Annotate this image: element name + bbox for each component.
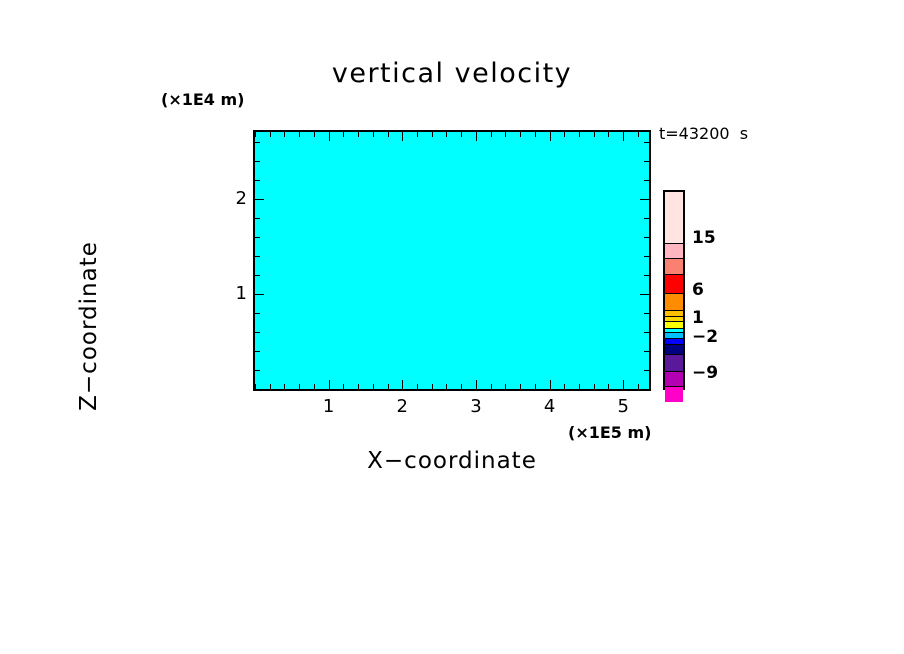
time-stamp-label: t=43200 s [659,124,748,143]
x-axis-units-label: (×1E5 m) [568,423,651,442]
axis-tick [314,132,315,137]
axis-tick [608,384,609,389]
colorbar-tick-label: 15 [692,228,716,248]
axis-tick [644,142,649,143]
axis-tick [255,313,260,314]
axis-tick [255,180,260,181]
y-axis-units-label: (×1E4 m) [161,90,244,109]
axis-tick [594,132,595,137]
colorbar-band [665,344,683,354]
colorbar-tick-label: −9 [692,363,718,383]
x-tick-label: 1 [314,396,344,417]
axis-tick [638,132,639,137]
axis-tick [255,370,260,371]
colorbar-band [665,243,683,259]
axis-tick [461,132,462,137]
axis-tick [579,132,580,137]
x-tick-label: 2 [387,396,417,417]
axis-tick [284,132,285,137]
axis-tick [432,132,433,137]
axis-tick [299,384,300,389]
axis-tick [373,384,374,389]
axis-tick [446,132,447,137]
axis-tick [491,384,492,389]
axis-tick [343,132,344,137]
axis-tick [255,332,260,333]
axis-tick [314,384,315,389]
axis-tick [564,132,565,137]
axis-tick [255,132,256,137]
axis-tick [550,132,551,141]
axis-tick [255,384,256,389]
axis-tick [358,384,359,389]
axis-tick [329,132,330,141]
colorbar [663,190,685,390]
axis-tick [623,380,624,389]
colorbar-tick-label: 6 [692,280,704,300]
axis-tick [535,132,536,137]
axis-tick [644,370,649,371]
colorbar-tick-label: −2 [692,327,718,347]
axis-tick [255,351,260,352]
x-tick-label: 4 [535,396,565,417]
axis-tick [644,275,649,276]
colorbar-band [665,274,683,293]
x-tick-label: 5 [608,396,638,417]
axis-tick [520,132,521,137]
x-axis-title: X−coordinate [0,448,904,474]
axis-tick [255,161,260,162]
axis-tick [579,384,580,389]
y-tick-label: 2 [221,188,247,209]
axis-tick [644,332,649,333]
axis-tick [255,199,264,200]
contour-plot-frame [253,130,651,391]
page-title: vertical velocity [0,58,904,89]
axis-tick [358,132,359,137]
colorbar-tick-label: 1 [692,308,704,328]
axis-tick [535,384,536,389]
axis-tick [644,351,649,352]
vertical-velocity-field [255,132,649,389]
axis-tick [343,384,344,389]
axis-tick [520,384,521,389]
axis-tick [270,132,271,137]
axis-tick [402,132,403,141]
y-tick-label: 1 [221,283,247,304]
axis-tick [505,384,506,389]
axis-tick [373,132,374,137]
axis-tick [644,237,649,238]
axis-tick [388,132,389,137]
axis-tick [623,132,624,141]
colorbar-band [665,192,683,243]
axis-tick [644,256,649,257]
axis-tick [329,380,330,389]
colorbar-band [665,293,683,310]
axis-tick [644,218,649,219]
axis-tick [476,380,477,389]
colorbar-band [665,354,683,370]
axis-tick [608,132,609,137]
axis-tick [446,384,447,389]
axis-tick [491,132,492,137]
y-axis-title: Z−coordinate [76,116,102,536]
axis-tick [644,313,649,314]
colorbar-band [665,258,683,274]
colorbar-band [665,386,683,402]
axis-tick [461,384,462,389]
axis-tick [255,294,264,295]
axis-tick [476,132,477,141]
axis-tick [644,180,649,181]
axis-tick [270,384,271,389]
axis-tick [644,161,649,162]
axis-tick [564,384,565,389]
axis-tick [284,384,285,389]
axis-tick [255,275,260,276]
axis-tick [640,294,649,295]
axis-tick [432,384,433,389]
x-tick-label: 3 [461,396,491,417]
axis-tick [402,380,403,389]
axis-tick [417,384,418,389]
axis-tick [255,237,260,238]
colorbar-band [665,371,683,386]
axis-tick [640,199,649,200]
axis-tick [299,132,300,137]
axis-tick [255,256,260,257]
axis-tick [255,142,260,143]
axis-tick [417,132,418,137]
axis-tick [505,132,506,137]
axis-tick [388,384,389,389]
axis-tick [255,218,260,219]
axis-tick [638,384,639,389]
axis-tick [594,384,595,389]
axis-tick [550,380,551,389]
